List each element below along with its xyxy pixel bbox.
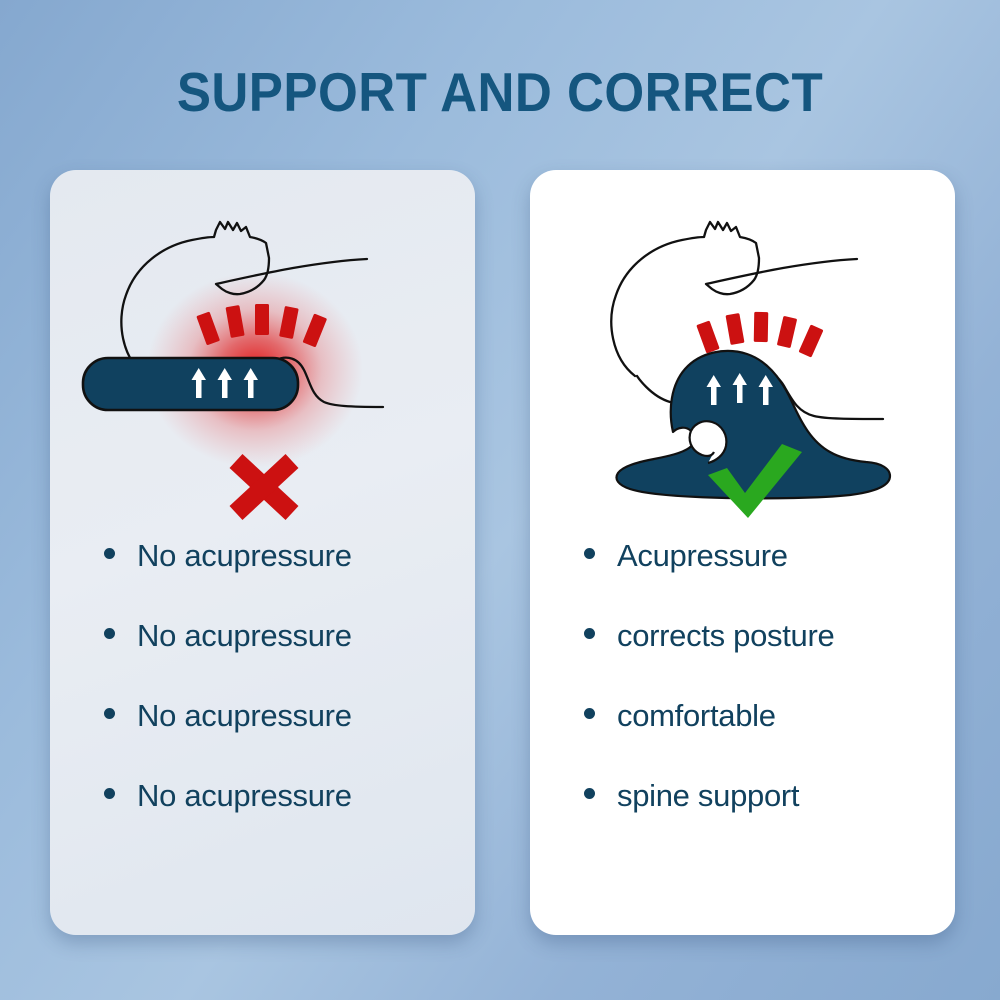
pressure-mark [777, 316, 797, 348]
x-mark-icon [236, 461, 292, 513]
list-item: No acupressure [50, 618, 475, 698]
bullet-dot-icon [584, 628, 595, 639]
wave-cervical-pillow-illustration [530, 180, 955, 535]
bullet-label: corrects posture [617, 618, 834, 654]
bullet-dot-icon [584, 788, 595, 799]
wave-pillow-body [617, 351, 891, 498]
pressure-marks-group [696, 312, 823, 358]
list-item: No acupressure [50, 698, 475, 778]
pressure-mark [255, 304, 269, 335]
flat-pillow-illustration [50, 180, 475, 535]
list-item: No acupressure [50, 538, 475, 618]
bullet-dot-icon [584, 548, 595, 559]
card-incorrect: No acupressure No acupressure No acupres… [50, 170, 475, 935]
pressure-mark [726, 313, 745, 345]
flat-pillow-body [83, 358, 298, 410]
bullet-label: No acupressure [137, 618, 352, 654]
bullet-dot-icon [104, 628, 115, 639]
page-title: SUPPORT AND CORRECT [35, 60, 965, 124]
bullet-dot-icon [104, 708, 115, 719]
list-item: No acupressure [50, 778, 475, 858]
bullet-dot-icon [584, 708, 595, 719]
bullet-label: Acupressure [617, 538, 788, 574]
bullet-list-correct: Acupressure corrects posture comfortable… [530, 538, 955, 928]
bullet-label: No acupressure [137, 778, 352, 814]
pressure-mark [754, 312, 769, 342]
bullet-label: spine support [617, 778, 799, 814]
comparison-infographic: SUPPORT AND CORRECT [0, 0, 1000, 1000]
list-item: comfortable [530, 698, 955, 778]
bullet-dot-icon [104, 548, 115, 559]
card-correct: Acupressure corrects posture comfortable… [530, 170, 955, 935]
bullet-label: comfortable [617, 698, 776, 734]
bullet-label: No acupressure [137, 538, 352, 574]
list-item: Acupressure [530, 538, 955, 618]
pressure-mark [799, 324, 824, 357]
list-item: spine support [530, 778, 955, 858]
bullet-label: No acupressure [137, 698, 352, 734]
bullet-list-incorrect: No acupressure No acupressure No acupres… [50, 538, 475, 928]
list-item: corrects posture [530, 618, 955, 698]
pressure-mark [696, 321, 719, 354]
bullet-dot-icon [104, 788, 115, 799]
